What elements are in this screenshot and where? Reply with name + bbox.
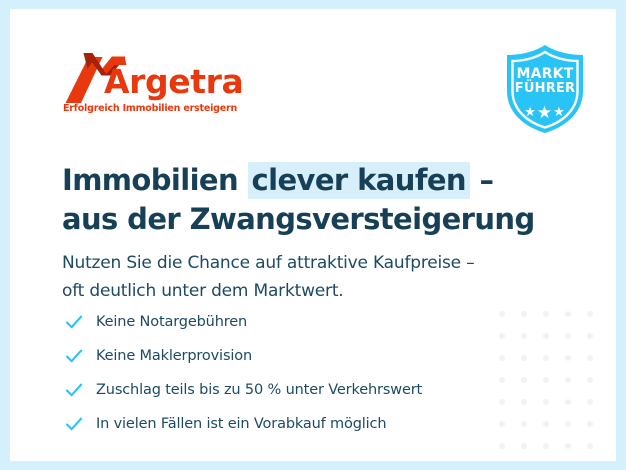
check-icon [64,380,84,400]
benefit-label: In vielen Fällen ist ein Vorabkauf mögli… [96,416,386,432]
headline-line-1: Immobilien clever kaufen – [62,161,582,199]
headline-line-2: aus der Zwangsversteigerung [62,200,582,238]
benefits-list: Keine Notargebühren Keine Maklerprovisio… [64,307,524,443]
check-icon [64,312,84,332]
list-item: Keine Notargebühren [64,307,524,336]
shield-icon [499,43,591,135]
benefit-label: Zuschlag teils bis zu 50 % unter Verkehr… [96,382,422,398]
list-item: Zuschlag teils bis zu 50 % unter Verkehr… [64,375,524,404]
argetra-logo[interactable]: Argetra Erfolgreich Immobilien ersteiger… [62,51,252,119]
list-item: Keine Maklerprovision [64,341,524,370]
market-leader-badge: MARKT FÜHRER ★★★ [499,43,591,135]
check-icon [64,414,84,434]
headline-prefix: Immobilien [62,163,248,197]
benefit-label: Keine Notargebühren [96,314,247,330]
subheadline: Nutzen Sie die Chance auf attraktive Kau… [62,250,582,305]
check-icon [64,346,84,366]
subheadline-line-2: oft deutlich unter dem Marktwert. [62,278,582,306]
logo-wordmark: Argetra [104,65,243,98]
promo-banner: Argetra Erfolgreich Immobilien ersteiger… [0,0,626,470]
benefit-label: Keine Maklerprovision [96,348,252,364]
headline-suffix: – [470,163,493,197]
banner-card: Argetra Erfolgreich Immobilien ersteiger… [10,9,616,461]
headline: Immobilien clever kaufen – aus der Zwang… [62,161,582,238]
headline-highlight: clever kaufen [248,162,470,199]
list-item: In vielen Fällen ist ein Vorabkauf mögli… [64,409,524,438]
logo-tagline: Erfolgreich Immobilien ersteigern [63,103,237,114]
subheadline-line-1: Nutzen Sie die Chance auf attraktive Kau… [62,250,582,278]
